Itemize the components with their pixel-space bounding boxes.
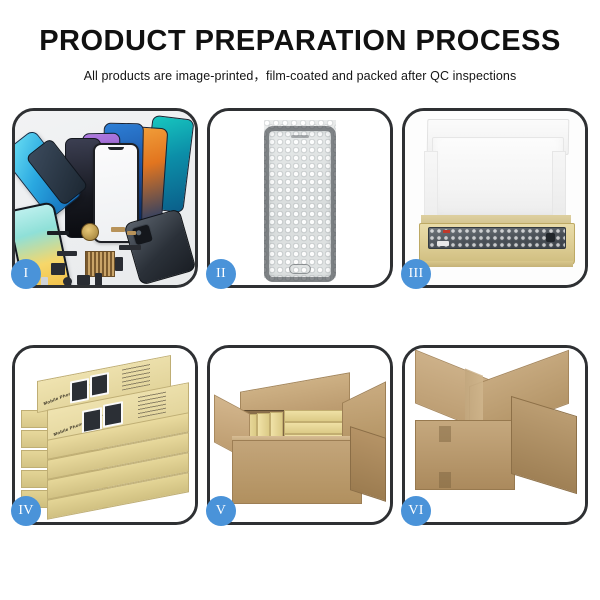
box-window-1b xyxy=(90,372,109,398)
wrapped-screen xyxy=(264,126,336,282)
part-coil xyxy=(81,223,99,241)
page-subtitle: All products are image-printed，film-coat… xyxy=(0,65,600,84)
part-ribbon xyxy=(47,231,69,235)
step-panel-4: Mobile Phone Spare Parts Mobile Phone Sp… xyxy=(12,345,198,525)
part-flex-3 xyxy=(119,245,141,250)
step-badge-5: V xyxy=(206,496,236,526)
step-6-image xyxy=(405,348,585,522)
home-button xyxy=(289,264,311,274)
red-label-mark xyxy=(443,230,450,233)
earpiece-speaker xyxy=(291,135,309,138)
part-flex-1 xyxy=(57,251,77,256)
part-sim-tray xyxy=(95,273,102,285)
notch xyxy=(108,147,124,150)
step-3-image xyxy=(405,111,585,285)
part-chip-2 xyxy=(127,231,136,235)
process-steps-grid: I II xyxy=(12,108,588,525)
step-badge-3: III xyxy=(401,259,431,289)
part-white-clip xyxy=(41,277,48,285)
carton-seam-top xyxy=(439,426,451,442)
carton-seam-bottom xyxy=(439,472,451,488)
step-panel-2: II xyxy=(207,108,393,288)
step-badge-4: IV xyxy=(11,496,41,526)
step-badge-1: I xyxy=(11,259,41,289)
step-5-image xyxy=(210,348,390,522)
step-1-image xyxy=(15,111,195,285)
foam-side-right xyxy=(552,151,566,225)
step-panel-1: I xyxy=(12,108,198,288)
carton-side-face xyxy=(350,426,386,502)
step-badge-6: VI xyxy=(401,496,431,526)
packed-screen xyxy=(428,227,566,249)
box-window-2b xyxy=(103,401,123,428)
box-front-lip xyxy=(419,261,573,267)
step-4-image: Mobile Phone Spare Parts Mobile Phone Sp… xyxy=(15,348,195,522)
box-stack: Mobile Phone Spare Parts Mobile Phone Sp… xyxy=(21,362,193,514)
part-flex-4 xyxy=(115,257,123,271)
dark-component-mark xyxy=(546,233,555,242)
step-panel-3: III xyxy=(402,108,588,288)
step-panel-5: V xyxy=(207,345,393,525)
foam-side-left xyxy=(424,151,438,225)
bubble-wrap-sheet xyxy=(264,120,336,278)
part-camera xyxy=(77,275,90,285)
white-label-mark xyxy=(437,241,449,246)
step-badge-2: II xyxy=(206,259,236,289)
part-chip-1 xyxy=(111,227,125,232)
page-title: PRODUCT PREPARATION PROCESS xyxy=(0,26,600,56)
header: PRODUCT PREPARATION PROCESS All products… xyxy=(0,0,600,84)
foam-sheet-back xyxy=(432,137,564,223)
box-window-1a xyxy=(70,378,89,404)
step-panel-6: VI xyxy=(402,345,588,525)
product-preparation-infographic: PRODUCT PREPARATION PROCESS All products… xyxy=(0,0,600,600)
part-button xyxy=(63,277,72,285)
carton-front-face xyxy=(415,420,515,490)
step-2-image xyxy=(210,111,390,285)
part-flex-2 xyxy=(51,263,65,275)
kraft-box-tray xyxy=(419,223,575,265)
carton-front-face xyxy=(232,440,362,504)
